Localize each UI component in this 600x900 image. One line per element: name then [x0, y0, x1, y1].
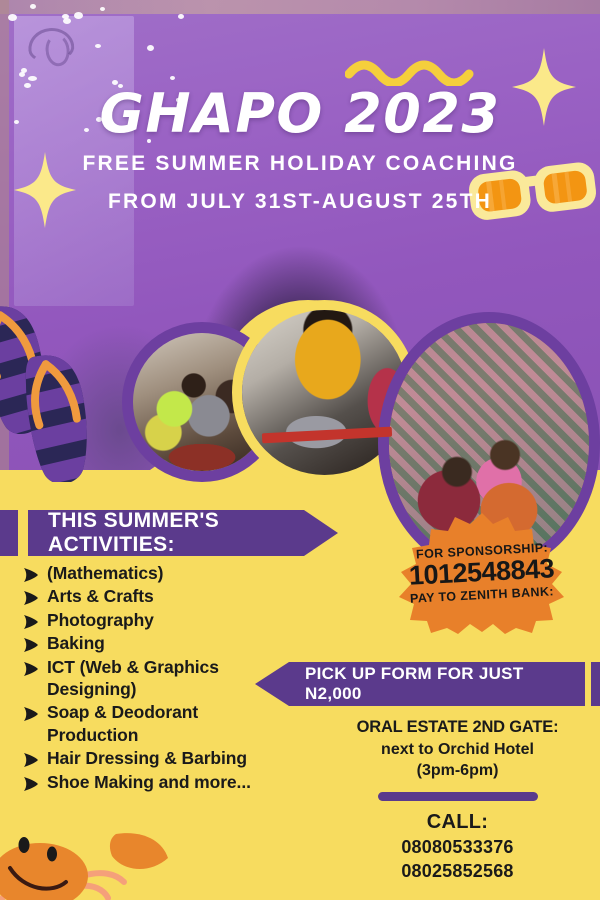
- speck: [95, 44, 101, 48]
- poster-subtitle-line2: FROM JULY 31ST-AUGUST 25TH: [0, 190, 600, 214]
- hero-top-strip: [0, 0, 600, 14]
- activity-label: Shoe Making and more...: [47, 771, 251, 793]
- activities-banner-stub: [0, 510, 18, 556]
- speck: [30, 4, 36, 9]
- activity-label: Soap & Deodorant Production: [47, 701, 292, 746]
- arrow-bullet-icon: [22, 751, 40, 769]
- call-label: CALL:: [330, 811, 585, 834]
- venue-line1: ORAL ESTATE 2ND GATE:: [330, 718, 585, 737]
- speck: [21, 68, 27, 73]
- arrow-bullet-icon: [22, 636, 40, 654]
- speck: [28, 76, 37, 81]
- speck: [74, 12, 83, 19]
- phone-number-2: 08025852568: [330, 861, 585, 882]
- poster-subtitle-line1: FREE SUMMER HOLIDAY COACHING: [0, 152, 600, 176]
- poster-title: GHAPO 2023: [0, 82, 600, 145]
- venue-contact-block: ORAL ESTATE 2ND GATE: next to Orchid Hot…: [330, 718, 585, 882]
- flip-flops-icon: [0, 292, 116, 482]
- arrow-bullet-icon: [22, 589, 40, 607]
- poster: GHAPO 2023 FREE SUMMER HOLIDAY COACHING …: [0, 0, 600, 900]
- phone-number-1: 08080533376: [330, 837, 585, 858]
- divider: [378, 792, 538, 801]
- crab-icon: [0, 812, 180, 900]
- activity-label: Baking: [47, 632, 105, 654]
- list-item: (Mathematics): [22, 562, 292, 584]
- list-item: Photography: [22, 609, 292, 631]
- activity-label: Hair Dressing & Barbing: [47, 747, 247, 769]
- activity-label: ICT (Web & Graphics Designing): [47, 656, 292, 701]
- venue-line2: next to Orchid Hotel: [330, 741, 585, 759]
- activities-banner: THIS SUMMER'S ACTIVITIES:: [28, 510, 338, 556]
- speck: [63, 18, 71, 24]
- list-item: Arts & Crafts: [22, 585, 292, 607]
- speck: [147, 45, 154, 51]
- speck: [178, 14, 184, 19]
- activities-list: (Mathematics) Arts & Crafts Photography …: [22, 562, 292, 794]
- pickup-form-label: PICK UP FORM FOR JUST N2,000: [305, 664, 585, 704]
- list-item: Baking: [22, 632, 292, 654]
- speck: [100, 7, 105, 11]
- pickup-form-banner: PICK UP FORM FOR JUST N2,000: [255, 662, 585, 706]
- list-item: Hair Dressing & Barbing: [22, 747, 292, 769]
- pickup-banner-stub: [591, 662, 600, 706]
- venue-line3: (3pm-6pm): [330, 762, 585, 780]
- arrow-bullet-icon: [22, 660, 40, 678]
- arrow-bullet-icon: [22, 613, 40, 631]
- speck: [8, 14, 17, 21]
- activity-label: (Mathematics): [47, 562, 163, 584]
- arrow-bullet-icon: [22, 775, 40, 793]
- list-item: Soap & Deodorant Production: [22, 701, 292, 746]
- sponsorship-badge: FOR SPONSORSHIP: 1012548843 PAY TO ZENIT…: [396, 512, 568, 634]
- arrow-bullet-icon: [22, 705, 40, 723]
- list-item: Shoe Making and more...: [22, 771, 292, 793]
- arrow-bullet-icon: [22, 566, 40, 584]
- speck: [170, 76, 175, 80]
- list-item: ICT (Web & Graphics Designing): [22, 656, 292, 701]
- activities-heading: THIS SUMMER'S ACTIVITIES:: [48, 509, 338, 557]
- activity-label: Photography: [47, 609, 154, 631]
- activity-label: Arts & Crafts: [47, 585, 154, 607]
